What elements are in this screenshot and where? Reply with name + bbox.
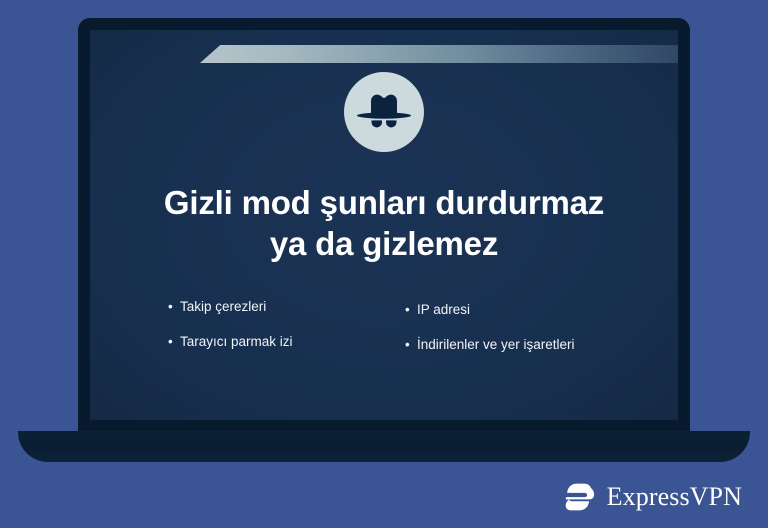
expressvpn-logo: ExpressVPN	[562, 479, 742, 515]
laptop-lid: Gizli mod şunları durdurmaz ya da gizlem…	[78, 18, 690, 434]
slide-canvas: Gizli mod şunları durdurmaz ya da gizlem…	[0, 0, 768, 528]
laptop-screen: Gizli mod şunları durdurmaz ya da gizlem…	[90, 30, 678, 420]
list-item: • Tarayıcı parmak izi	[168, 333, 363, 351]
badge-area	[90, 72, 678, 152]
bullet-dot-icon: •	[168, 298, 178, 316]
list-item: • İndirilenler ve yer işaretleri	[405, 336, 600, 354]
list-item: • IP adresi	[405, 301, 600, 319]
screen-glare-streak	[200, 45, 678, 63]
incognito-badge	[344, 72, 424, 152]
bullet-columns: • Takip çerezleri • Tarayıcı parmak izi …	[168, 298, 600, 354]
bullet-dot-icon: •	[405, 301, 415, 319]
list-item-label: İndirilenler ve yer işaretleri	[417, 336, 600, 354]
bullet-column-right: • IP adresi • İndirilenler ve yer işaret…	[405, 298, 600, 354]
list-item: • Takip çerezleri	[168, 298, 363, 316]
bullet-dot-icon: •	[405, 336, 415, 354]
expressvpn-e-mark-icon	[562, 479, 598, 515]
heading-line-1: Gizli mod şunları durdurmaz	[128, 182, 640, 223]
list-item-label: IP adresi	[417, 301, 600, 319]
bullet-dot-icon: •	[168, 333, 178, 351]
expressvpn-wordmark: ExpressVPN	[607, 483, 742, 511]
list-item-label: Tarayıcı parmak izi	[180, 333, 363, 351]
heading-line-2: ya da gizlemez	[128, 223, 640, 264]
bullet-column-left: • Takip çerezleri • Tarayıcı parmak izi	[168, 298, 363, 354]
slide-heading: Gizli mod şunları durdurmaz ya da gizlem…	[128, 182, 640, 264]
laptop-base	[18, 431, 750, 462]
incognito-spy-icon	[356, 92, 412, 132]
list-item-label: Takip çerezleri	[180, 298, 363, 316]
